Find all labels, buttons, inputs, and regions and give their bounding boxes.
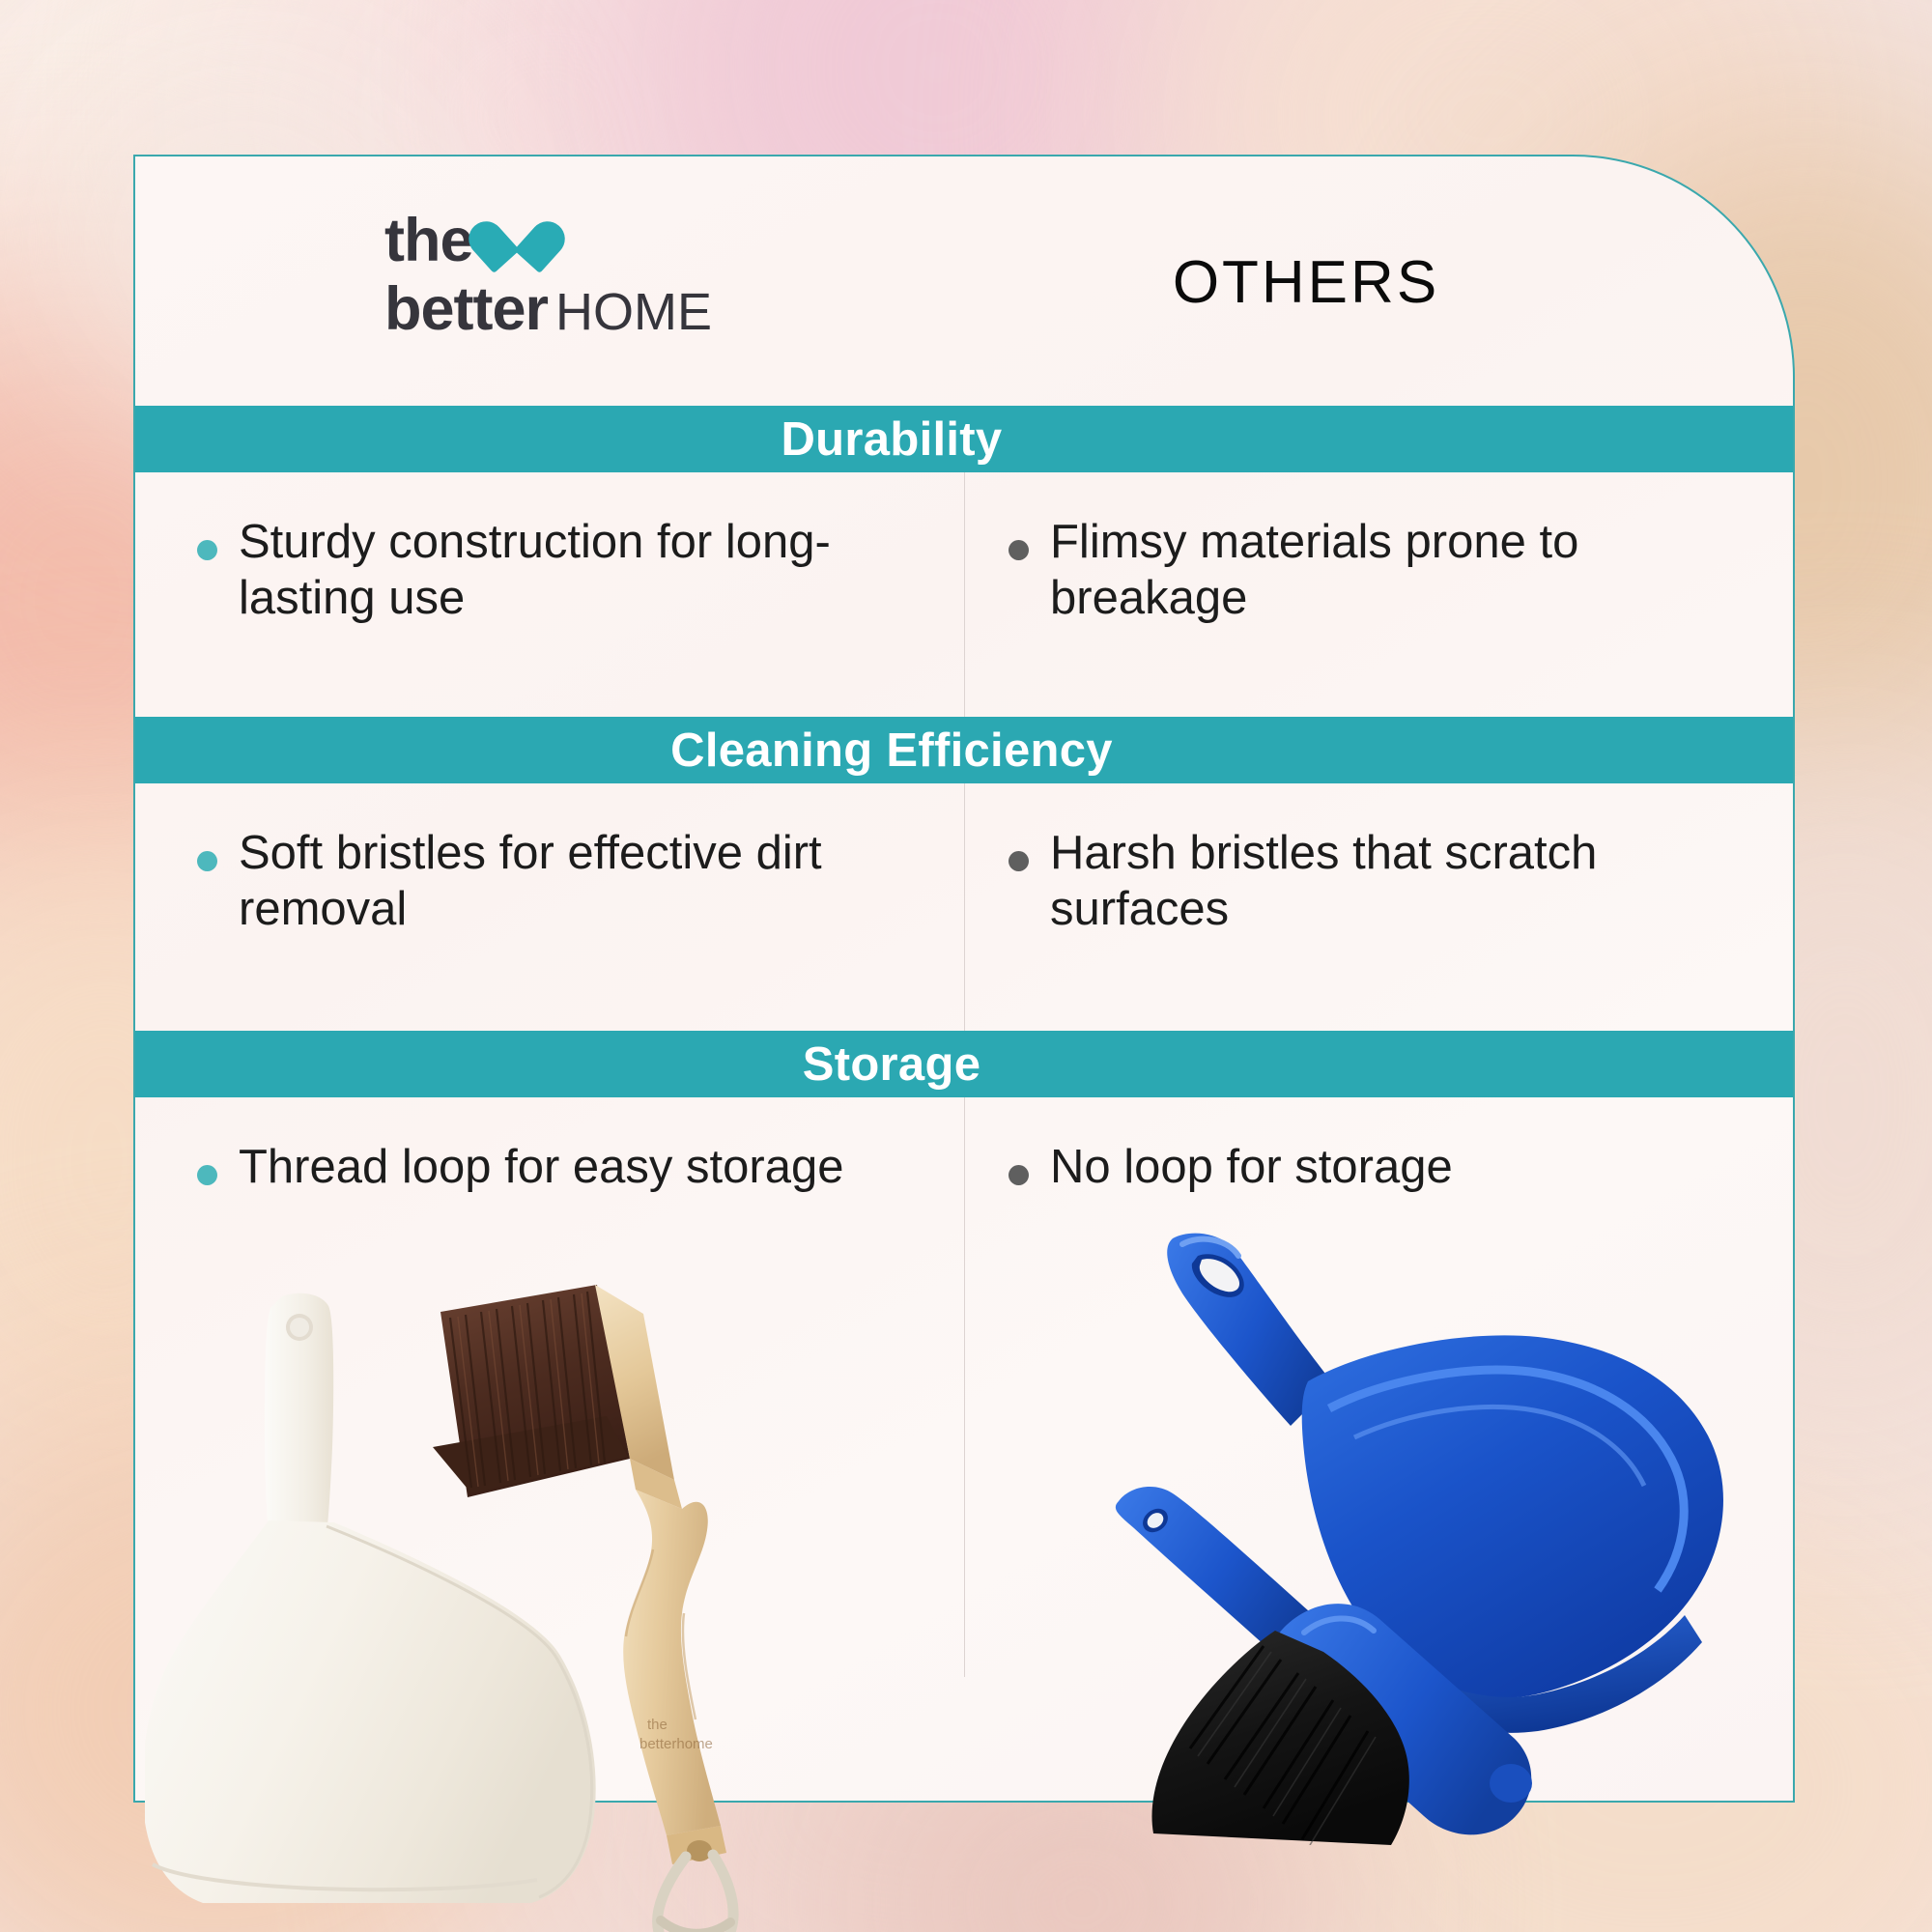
brand-logo: the better HOME — [384, 213, 790, 344]
logo-line-2: better HOME — [384, 274, 790, 344]
brand-cell-cleaning-efficiency: Soft bristles for effective dirt removal — [135, 783, 920, 1031]
others-cell-cleaning-efficiency: Harsh bristles that scratch surfaces — [920, 783, 1793, 1031]
comparison-row-durability: Sturdy construction for long-lasting use… — [135, 472, 1793, 717]
bullet-dot-icon — [1009, 540, 1029, 560]
others-cell-durability: Flimsy materials prone to breakage — [920, 472, 1793, 717]
brand-header-cell: the better HOME — [135, 156, 964, 406]
comparison-row-cleaning-efficiency: Soft bristles for effective dirt removal… — [135, 783, 1793, 1031]
heart-icon — [487, 213, 547, 266]
section-title-durability: Durability — [135, 406, 1793, 472]
logo-word-better: better — [384, 274, 548, 344]
logo-word-the: the — [384, 213, 473, 269]
brand-point-storage: Thread loop for easy storage — [239, 1140, 843, 1677]
section-title-storage: Storage — [135, 1031, 1793, 1097]
brand-point-durability: Sturdy construction for long-lasting use — [239, 515, 866, 717]
logo-word-home: HOME — [555, 282, 712, 342]
section-title-cleaning-efficiency: Cleaning Efficiency — [135, 717, 1793, 783]
bullet-dot-icon — [1009, 1165, 1029, 1185]
others-label: OTHERS — [964, 248, 1793, 317]
comparison-card: the better HOME OTHERS Durability Sturdy… — [133, 155, 1795, 1803]
others-cell-storage: No loop for storage — [920, 1097, 1793, 1677]
others-point-storage: No loop for storage — [1050, 1140, 1453, 1677]
brand-point-cleaning-efficiency: Soft bristles for effective dirt removal — [239, 826, 866, 1031]
bullet-dot-icon — [197, 851, 217, 871]
brand-cell-storage: Thread loop for easy storage — [135, 1097, 920, 1677]
others-header-cell: OTHERS — [964, 156, 1793, 406]
brand-cell-durability: Sturdy construction for long-lasting use — [135, 472, 920, 717]
others-point-durability: Flimsy materials prone to breakage — [1050, 515, 1677, 717]
bullet-dot-icon — [197, 1165, 217, 1185]
comparison-row-storage: Thread loop for easy storage No loop for… — [135, 1097, 1793, 1677]
card-header: the better HOME OTHERS — [135, 156, 1793, 406]
others-point-cleaning-efficiency: Harsh bristles that scratch surfaces — [1050, 826, 1677, 1031]
bullet-dot-icon — [1009, 851, 1029, 871]
logo-line-1: the — [384, 213, 790, 269]
bullet-dot-icon — [197, 540, 217, 560]
infographic-canvas: the better HOME OTHERS Durability Sturdy… — [0, 0, 1932, 1932]
